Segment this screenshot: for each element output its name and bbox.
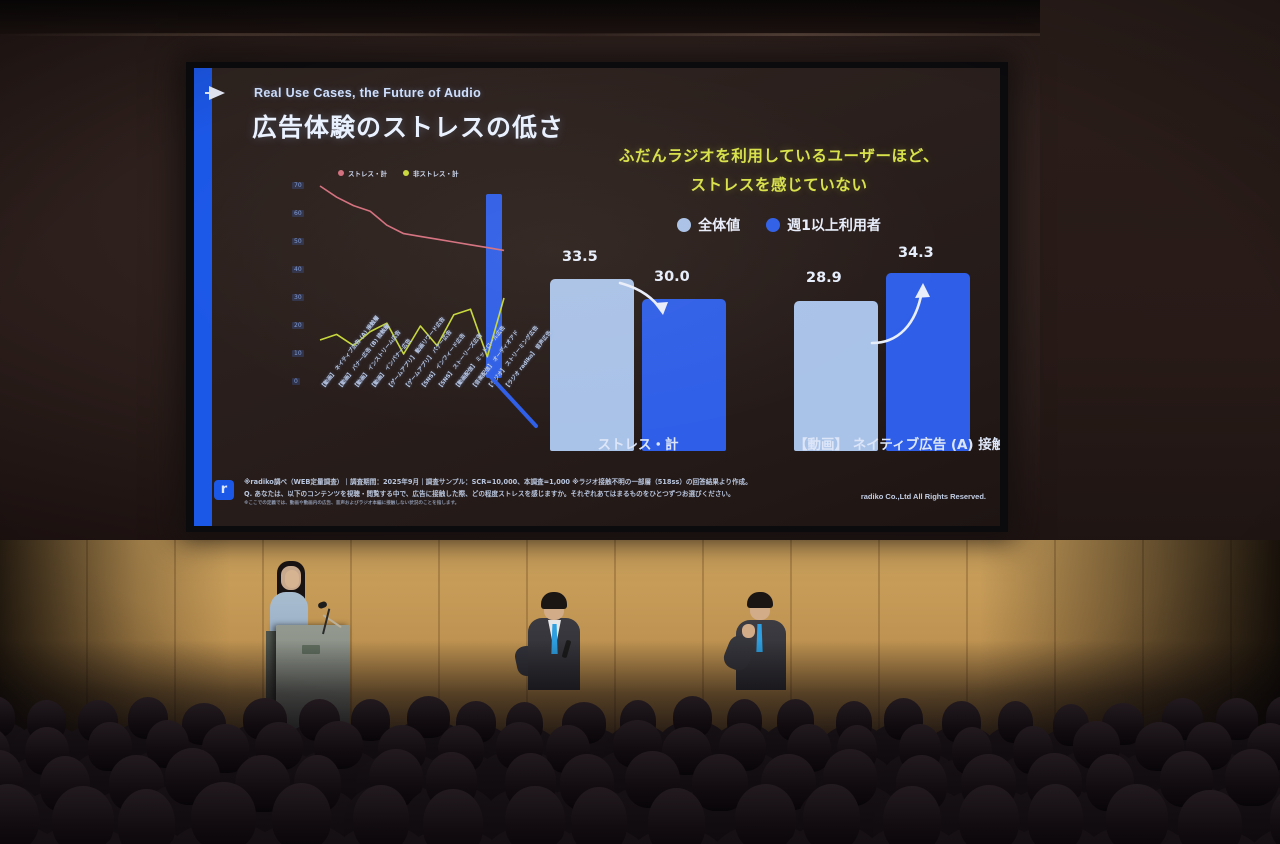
line-legend-dot-nonstress (403, 170, 409, 176)
line-chart: ストレス・計 非ストレス・計 706050403020100 【動画】 ネイティ… (292, 168, 542, 468)
audience-head (505, 786, 564, 844)
arrow-down-annotation (550, 271, 746, 451)
line-chart-legend: ストレス・計 非ストレス・計 (338, 168, 459, 178)
arrow-up-annotation (794, 271, 990, 451)
footnote-line-2: Q. あなたは、以下のコンテンツを視聴・閲覧する中で、広告に接触した際、どの程度… (244, 488, 735, 498)
projected-slide: r Real Use Cases, the Future of Audio 広告… (194, 68, 1000, 526)
audience-head (272, 783, 331, 844)
line-series-0 (320, 186, 504, 250)
legend-label-weekly: 週1以上利用者 (787, 215, 881, 235)
audience-head (883, 786, 940, 844)
headline-line-2: ストレスを感じていない (574, 171, 984, 200)
line-legend-stress: ストレス・計 (338, 168, 387, 178)
bar-chart-legend: 全体値 週1以上利用者 (579, 215, 979, 235)
slide-title: 広告体験のストレスの低さ (252, 108, 564, 144)
audience-head (803, 784, 859, 844)
line-legend-nonstress: 非ストレス・計 (403, 168, 459, 178)
legend-item-overall: 全体値 (677, 215, 740, 235)
footnote-line-1: ※radiko調べ（WEB定量調査）｜調査期間：2025年9月｜調査サンプル：S… (244, 476, 752, 486)
panelist-left-hair (541, 592, 567, 609)
legend-label-overall: 全体値 (698, 215, 740, 235)
slide-accent-bar (194, 68, 212, 526)
panelist-right-hand (742, 624, 755, 638)
audience-head (735, 784, 796, 844)
line-legend-label-stress: ストレス・計 (348, 168, 387, 178)
bar-chart: 33.5 30.0 ストレス・計 28.9 34.3 【動画】 ネイティブ広告 … (546, 253, 994, 473)
radiko-logo: r (214, 480, 234, 500)
slide-eyebrow: Real Use Cases, the Future of Audio (254, 86, 481, 100)
line-legend-label-nonstress: 非ストレス・計 (413, 168, 459, 178)
slide-headline: ふだんラジオを利用しているユーザーほど、 ストレスを感じていない (574, 142, 984, 200)
audience-head (1028, 784, 1083, 844)
radiko-highlight-underline (488, 374, 548, 434)
line-legend-dot-stress (338, 170, 344, 176)
bar-category-nonstress: 【動画】 ネイティブ広告 (A) 接触層 (794, 433, 970, 453)
audience-head (353, 785, 408, 844)
bar-value-34-3: 34.3 (898, 245, 934, 261)
bar-category-stress: ストレス・計 (550, 433, 726, 453)
bar-value-33-5: 33.5 (562, 249, 598, 265)
legend-dot-overall (677, 218, 691, 232)
audience-head (52, 786, 113, 844)
panelist-right-hair (747, 592, 773, 608)
audience-head (191, 782, 256, 844)
play-arrow-icon (209, 86, 225, 100)
audience-head (1225, 749, 1279, 806)
slide-copyright: radiko Co.,Ltd All Rights Reserved. (861, 492, 986, 501)
headline-line-1: ふだんラジオを利用しているユーザーほど、 (574, 142, 984, 171)
bar-group-stress: 33.5 30.0 ストレス・計 (550, 271, 746, 451)
audience-head (423, 789, 483, 844)
auditorium-photo: r Real Use Cases, the Future of Audio 広告… (0, 0, 1280, 844)
footnote-line-3: ※ここでの定義では、動画や動画内の広告、音声およびラジオ本編に接触しない状況のこ… (244, 500, 459, 506)
legend-item-weekly: 週1以上利用者 (766, 215, 881, 235)
podium-speaker-face (285, 570, 299, 588)
legend-dot-weekly (766, 218, 780, 232)
audience-head (1106, 784, 1169, 844)
bar-group-nonstress: 28.9 34.3 【動画】 ネイティブ広告 (A) 接触層 (794, 271, 990, 451)
